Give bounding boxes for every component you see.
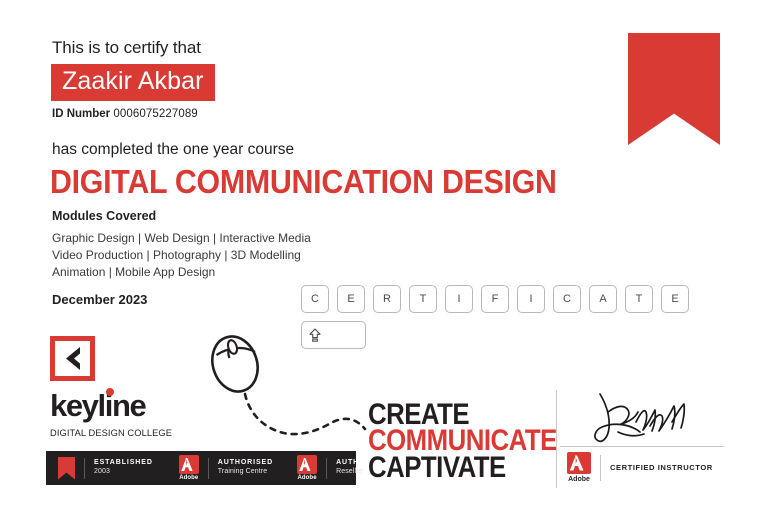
module-line: Video Production | Photography | 3D Mode… <box>52 247 311 264</box>
completed-line: has completed the one year course <box>52 141 294 159</box>
adobe-logo-icon: Adobe <box>179 455 199 481</box>
id-number-value: 0006075227089 <box>113 108 197 120</box>
keyline-tagline: DIGITAL DESIGN COLLEGE <box>50 428 172 438</box>
badge-training-centre: Adobe AUTHORISED Training Centre <box>179 455 273 481</box>
keyline-logo: keyline DIGITAL DESIGN COLLEGE <box>50 336 172 438</box>
keyboard-key[interactable]: E <box>337 285 365 313</box>
slogan-block: CREATE COMMUNICATE CAPTIVATE <box>368 402 587 481</box>
slogan-line-captivate: CAPTIVATE <box>368 455 557 481</box>
keyline-wordmark-text: keyline <box>50 388 145 423</box>
signature-rule <box>560 446 724 447</box>
badge-divider <box>326 458 327 479</box>
credit-divider <box>600 455 601 481</box>
adobe-wordmark: Adobe <box>297 475 316 481</box>
adobe-logo-icon: Adobe <box>297 455 317 481</box>
certificate-canvas: This is to certify that Zaakir Akbar ID … <box>0 0 768 517</box>
id-number-line: ID Number 0006075227089 <box>52 108 198 120</box>
keyline-wordmark: keyline <box>50 390 172 421</box>
module-line: Graphic Design | Web Design | Interactiv… <box>52 230 311 247</box>
keyboard-key[interactable]: R <box>373 285 401 313</box>
handwritten-signature-icon <box>588 388 708 450</box>
keyboard-key[interactable]: T <box>625 285 653 313</box>
keyline-bracket-icon <box>50 336 95 381</box>
badge-established: ESTABLISHED 2003 <box>58 457 153 480</box>
keyboard-key[interactable]: F <box>481 285 509 313</box>
issue-date: December 2023 <box>52 292 147 307</box>
keyboard-key[interactable]: E <box>661 285 689 313</box>
mouse-illustration <box>205 332 395 457</box>
modules-heading: Modules Covered <box>52 209 156 223</box>
adobe-wordmark: Adobe <box>179 475 198 481</box>
badge-divider <box>84 458 85 479</box>
keyboard-key-row: C E R T I F I C A T E <box>301 285 689 313</box>
badge-subtitle: Training Centre <box>218 468 273 477</box>
keyboard-key[interactable]: T <box>409 285 437 313</box>
badge-title: ESTABLISHED <box>94 459 153 468</box>
computer-mouse-icon <box>205 332 264 397</box>
ribbon-flag-icon <box>58 457 75 480</box>
id-number-label: ID Number <box>52 108 110 120</box>
certify-line: This is to certify that <box>52 38 201 58</box>
modules-list: Graphic Design | Web Design | Interactiv… <box>52 230 311 281</box>
keyline-dot-icon <box>106 388 114 396</box>
adobe-wordmark: Adobe <box>567 476 591 483</box>
keyboard-key[interactable]: C <box>553 285 581 313</box>
module-line: Animation | Mobile App Design <box>52 264 311 281</box>
certified-instructor-label: CERTIFIED INSTRUCTOR <box>610 463 713 472</box>
badge-title: AUTHORISED <box>218 459 273 468</box>
dashed-trail-icon <box>245 394 365 434</box>
partner-bar: ESTABLISHED 2003 Adobe AUTHORISED Traini… <box>46 451 356 485</box>
recipient-name: Zaakir Akbar <box>51 64 215 101</box>
bookmark-ribbon-icon <box>628 33 720 145</box>
keyboard-key[interactable]: I <box>517 285 545 313</box>
keyboard-key[interactable]: C <box>301 285 329 313</box>
badge-divider <box>208 458 209 479</box>
badge-subtitle: 2003 <box>94 468 153 477</box>
course-title: DIGITAL COMMUNICATION DESIGN <box>50 163 557 201</box>
keyboard-key[interactable]: I <box>445 285 473 313</box>
instructor-credit: Adobe CERTIFIED INSTRUCTOR <box>567 452 713 483</box>
signature-vertical-divider <box>556 390 557 488</box>
keyboard-key[interactable]: A <box>589 285 617 313</box>
adobe-logo-icon: Adobe <box>567 452 591 483</box>
